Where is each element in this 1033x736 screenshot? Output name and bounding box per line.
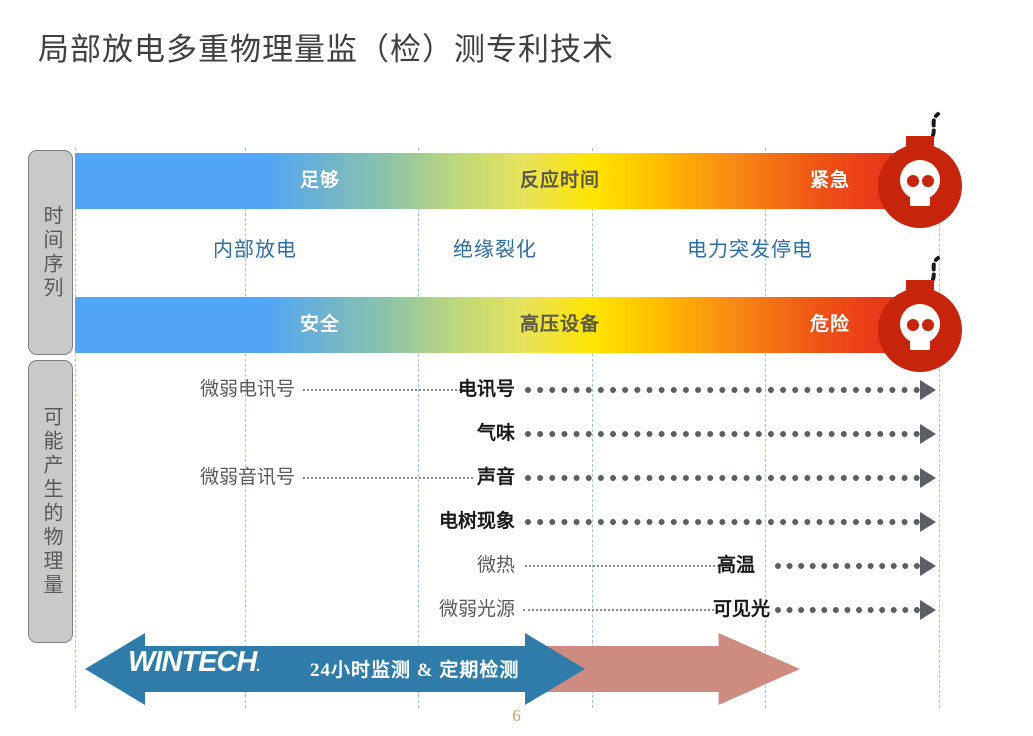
equipment-state-spectrum-bar: 安全 高压设备 危险: [75, 297, 940, 353]
bold-dotted-connector: [525, 387, 920, 399]
page-number: 6: [0, 706, 1033, 726]
strong-label: 声音: [405, 456, 515, 500]
strong-label: 电树现象: [385, 500, 515, 544]
wintech-logo-dot: .: [256, 658, 259, 675]
strong-label: 气味: [405, 412, 515, 456]
wintech-logo-part2: TECH: [181, 642, 256, 678]
sidebar-item-label: 时间序列: [40, 205, 61, 301]
row-arrow-icon: [920, 600, 936, 620]
bomb-skull-icon: [866, 108, 974, 228]
spectrum-label-reaction-time: 反应时间: [445, 153, 675, 209]
spectrum-label-high-voltage-equipment: 高压设备: [445, 297, 675, 353]
weak-label: [115, 412, 295, 456]
row-electrical-signal: 微弱电讯号 电讯号: [75, 368, 945, 412]
weak-label: [115, 500, 295, 544]
bold-dotted-connector: [525, 431, 920, 443]
bold-dotted-connector: [525, 519, 920, 531]
middle-label-internal-discharge: 内部放电: [140, 232, 370, 268]
wintech-logo-part1: WIN: [128, 646, 181, 678]
row-acoustic-signal: 微弱音讯号 声音: [75, 456, 945, 500]
middle-label-power-outage: 电力突发停电: [620, 232, 880, 268]
strong-label: 高温: [645, 544, 755, 588]
strong-label: 电讯号: [405, 368, 515, 412]
spectrum-label-safe: 安全: [205, 297, 435, 353]
row-light: 微弱光源 可见光: [75, 588, 945, 632]
sidebar-item-possible-physical-quantities[interactable]: 可能产生的物理量: [28, 360, 73, 643]
bold-dotted-connector: [775, 607, 920, 619]
row-arrow-icon: [920, 380, 936, 400]
row-odor: 气味: [75, 412, 945, 456]
sidebar-item-time-sequence[interactable]: 时间序列: [28, 150, 73, 355]
weak-label: 微弱音讯号: [115, 456, 295, 500]
spectrum-label-sufficient: 足够: [205, 153, 435, 209]
strong-label: 可见光: [635, 588, 770, 632]
weak-label: 微弱光源: [375, 588, 515, 632]
row-electrical-tree: 电树现象: [75, 500, 945, 544]
weak-label: 微热: [415, 544, 515, 588]
bold-dotted-connector: [775, 563, 920, 575]
bomb-skull-icon: [866, 252, 974, 372]
row-temperature: 微热 高温: [75, 544, 945, 588]
bold-dotted-connector: [525, 475, 920, 487]
reaction-time-spectrum-bar: 足够 反应时间 紧急: [75, 153, 940, 209]
row-arrow-icon: [920, 512, 936, 532]
middle-label-insulation-degradation: 绝缘裂化: [380, 232, 610, 268]
page-title: 局部放电多重物理量监（检）测专利技术: [38, 24, 614, 69]
row-arrow-icon: [920, 424, 936, 444]
sidebar-item-label: 可能产生的物理量: [40, 406, 61, 598]
wintech-logo: WINTECH.: [128, 648, 260, 677]
weak-label: 微弱电讯号: [115, 368, 295, 412]
monitoring-arrow-label: 24小时监测 & 定期检测: [310, 655, 519, 682]
row-arrow-icon: [920, 556, 936, 576]
row-arrow-icon: [920, 468, 936, 488]
